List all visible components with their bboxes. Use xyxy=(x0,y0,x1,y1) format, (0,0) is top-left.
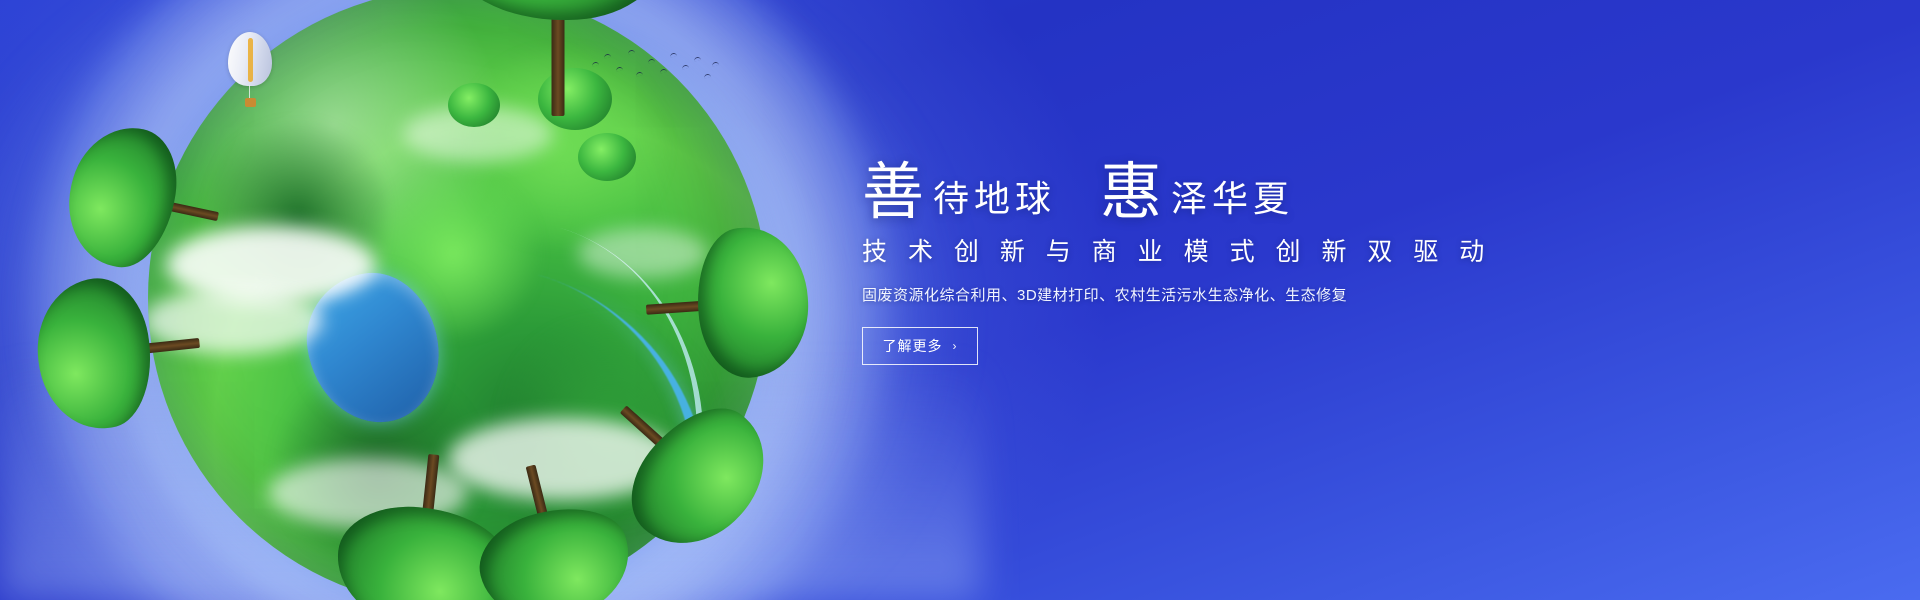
hero-subtitle: 技 术 创 新 与 商 业 模 式 创 新 双 驱 动 xyxy=(862,232,1482,268)
headline-char-big-1: 善 xyxy=(862,162,925,224)
tree-trunk xyxy=(552,4,565,116)
bird-icon xyxy=(616,67,623,72)
tree-crown xyxy=(57,117,188,276)
page-title: 善 待地球 惠 泽华夏 xyxy=(862,128,1482,224)
cloud xyxy=(166,226,376,304)
tree xyxy=(673,224,813,383)
terrain-patch xyxy=(208,108,388,328)
tree-crown xyxy=(453,0,663,20)
bird-icon xyxy=(682,65,689,70)
balloon-stripe xyxy=(248,38,253,82)
bird-flock xyxy=(590,48,720,94)
headline-segment-2: 惠 泽华夏 xyxy=(1100,162,1294,224)
hero-description: 固废资源化综合利用、3D建材打印、农村生活污水生态净化、生态修复 xyxy=(862,284,1482,305)
bird-icon xyxy=(704,74,711,79)
lake xyxy=(298,265,448,432)
balloon-rope xyxy=(249,85,250,99)
tree-crown xyxy=(31,273,158,434)
tree-crown xyxy=(693,224,813,381)
bird-icon xyxy=(694,57,701,62)
bird-icon xyxy=(670,53,677,58)
hero-text-block: 善 待地球 惠 泽华夏 技 术 创 新 与 商 业 模 式 创 新 双 驱 动 … xyxy=(862,128,1482,365)
cloud xyxy=(403,106,553,162)
shrub xyxy=(448,83,500,127)
tree xyxy=(31,272,176,435)
balloon-basket xyxy=(245,98,256,107)
bird-icon xyxy=(628,50,635,55)
learn-more-label: 了解更多 xyxy=(883,336,943,356)
tree-crown xyxy=(469,494,641,600)
headline-chars-small-2: 泽华夏 xyxy=(1171,181,1294,217)
shrub xyxy=(578,133,636,181)
bird-icon xyxy=(592,62,599,67)
bird-icon xyxy=(712,62,719,67)
headline-segment-1: 善 待地球 xyxy=(862,162,1056,224)
headline-chars-small-1: 待地球 xyxy=(933,181,1056,217)
bird-icon xyxy=(660,69,667,74)
terrain-patch xyxy=(358,168,548,338)
chevron-right-icon: › xyxy=(953,339,958,353)
eco-hero-banner: 善 待地球 惠 泽华夏 技 术 创 新 与 商 业 模 式 创 新 双 驱 动 … xyxy=(0,0,1920,600)
bird-icon xyxy=(648,59,655,64)
bird-icon xyxy=(636,72,643,77)
learn-more-button[interactable]: 了解更多 › xyxy=(862,327,978,365)
hot-air-balloon-icon xyxy=(228,32,272,110)
headline-char-big-2: 惠 xyxy=(1100,162,1163,224)
bird-icon xyxy=(604,54,611,59)
